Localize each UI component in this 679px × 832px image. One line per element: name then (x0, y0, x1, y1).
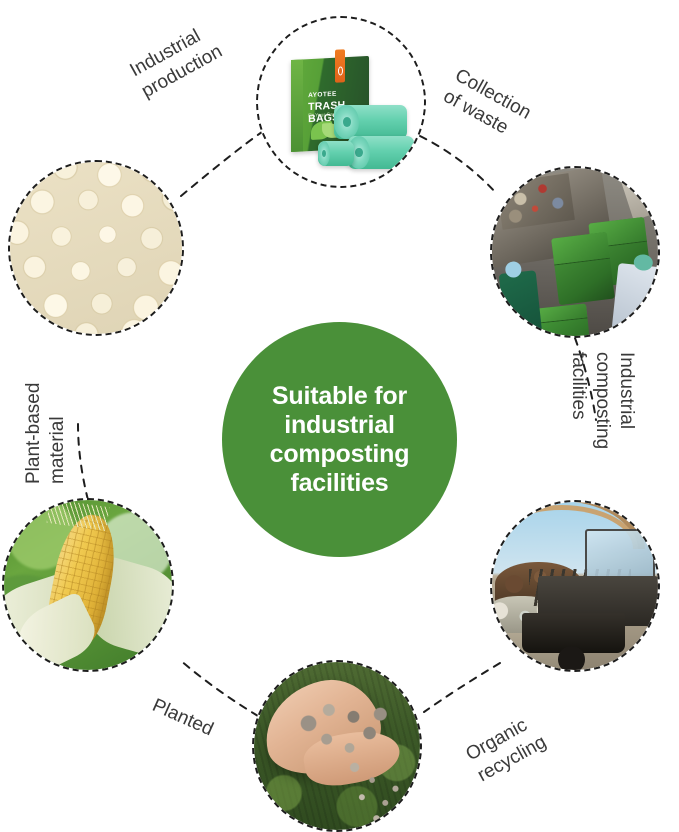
hub-title-line-4: facilities (270, 469, 410, 498)
step-node-collection-of-waste[interactable] (490, 166, 660, 338)
pellet-field (10, 162, 182, 334)
hub-title-line-3: composting (270, 440, 410, 469)
worker-right (611, 263, 658, 334)
connector-planted-to-plantbased (78, 424, 88, 500)
connector-production-to-collection (420, 136, 497, 194)
box-orange-tab (335, 49, 345, 83)
hub-title-line-1: Suitable for (270, 382, 410, 411)
loader-wheel (558, 646, 585, 670)
hub-title-line-2: industrial (270, 411, 410, 440)
step-node-resin-pellets[interactable] (8, 160, 184, 336)
label-plant-based-material: Plant-based material (22, 383, 70, 484)
green-bin-lower (537, 303, 590, 336)
bag-roll-medium (348, 136, 414, 170)
hub-title: Suitable for industrial composting facil… (256, 382, 424, 498)
step-node-organic-recycling[interactable] (490, 500, 660, 672)
step-node-industrial-production[interactable]: AYOTEE TRASH BAGS Fit Your Can (256, 16, 426, 188)
image-bioplastic-pellets (10, 162, 182, 334)
box-spine (291, 60, 303, 153)
image-waste-collection (492, 168, 658, 336)
infographic-canvas: AYOTEE TRASH BAGS Fit Your Can (0, 0, 679, 832)
connector-recycling-to-planted (180, 660, 258, 716)
connector-pellets-to-production (181, 132, 262, 196)
image-trash-bag-product: AYOTEE TRASH BAGS Fit Your Can (258, 18, 424, 186)
connector-facilities-to-recycling (424, 663, 500, 712)
image-hand-spreading-compost (254, 662, 420, 830)
image-corn-cob (4, 500, 172, 670)
worker-left (499, 270, 542, 336)
green-bin-front (551, 232, 615, 306)
falling-granules (340, 756, 413, 827)
image-composting-facility (492, 502, 658, 670)
step-node-planted[interactable] (252, 660, 422, 832)
bag-roll-large (334, 105, 407, 139)
label-industrial-composting-facilities: Industrial composting facilities (567, 352, 638, 449)
bag-roll-small (318, 141, 355, 166)
center-hub: Suitable for industrial composting facil… (222, 322, 457, 557)
kerb (618, 168, 658, 220)
step-node-plant-based-material[interactable] (2, 498, 174, 672)
